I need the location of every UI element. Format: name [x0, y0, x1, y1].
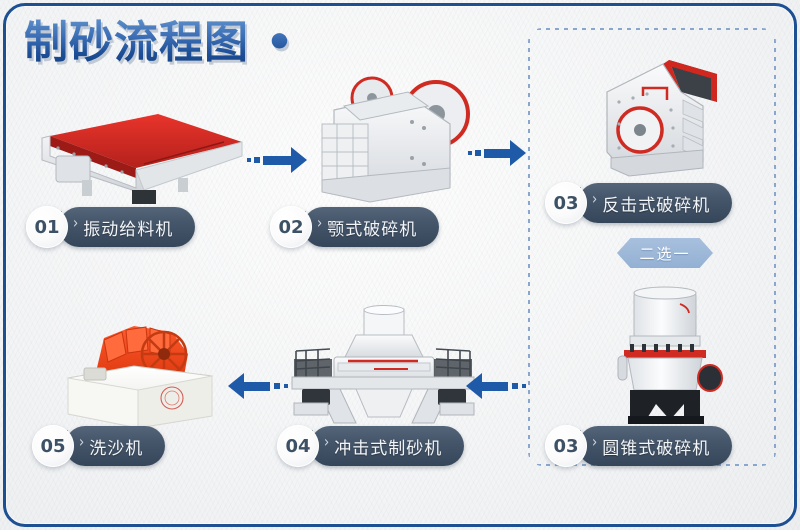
sand-washer-image — [60, 310, 240, 435]
arrow-head-right-icon — [510, 140, 526, 166]
step-label-pill[interactable]: › 圆锥式破碎机 — [578, 426, 732, 466]
step-label-pill[interactable]: › 振动给料机 — [59, 207, 195, 247]
arrow-vsi-to-washer — [228, 373, 288, 399]
cone-crusher-image — [610, 280, 730, 430]
arrow-dot — [475, 150, 481, 156]
step-label: 颚式破碎机 — [327, 215, 417, 240]
step-05[interactable]: 05 › 洗沙机 — [32, 425, 165, 467]
step-number: 03 — [545, 182, 587, 224]
arrow-dot — [247, 158, 251, 162]
step-label-pill[interactable]: › 反击式破碎机 — [578, 183, 732, 223]
impact-crusher-image — [585, 48, 735, 188]
step-number: 03 — [545, 425, 587, 467]
chevron-right-icon: › — [317, 214, 322, 233]
jaw-crusher-image — [300, 62, 480, 212]
chevron-right-icon: › — [73, 214, 78, 233]
arrow-dot — [468, 151, 472, 155]
step-label: 圆锥式破碎机 — [602, 434, 710, 459]
step-label: 冲击式制砂机 — [334, 434, 442, 459]
arrow-dot — [284, 384, 288, 388]
step-label-pill[interactable]: › 颚式破碎机 — [303, 207, 439, 247]
arrow-head-right-icon — [291, 147, 307, 173]
step-03-impact[interactable]: 03 › 反击式破碎机 — [545, 182, 732, 224]
step-label-pill[interactable]: › 冲击式制砂机 — [310, 426, 464, 466]
arrow-dot — [512, 383, 518, 389]
arrow-shaft — [484, 149, 510, 158]
step-number: 02 — [270, 206, 312, 248]
arrow-shaft — [263, 156, 291, 165]
step-label: 反击式破碎机 — [602, 191, 710, 216]
step-number: 01 — [26, 206, 68, 248]
step-number: 04 — [277, 425, 319, 467]
chevron-right-icon: › — [592, 190, 597, 209]
chevron-right-icon: › — [79, 433, 84, 452]
arrow-dot — [274, 383, 280, 389]
vibrating-feeder-image — [28, 98, 248, 208]
step-label-pill[interactable]: › 洗沙机 — [65, 426, 165, 466]
arrow-head-left-icon — [228, 373, 244, 399]
step-01[interactable]: 01 › 振动给料机 — [26, 206, 195, 248]
chevron-right-icon: › — [592, 433, 597, 452]
chevron-right-icon: › — [324, 433, 329, 452]
arrow-shaft — [482, 382, 508, 391]
step-number: 05 — [32, 425, 74, 467]
step-02[interactable]: 02 › 颚式破碎机 — [270, 206, 439, 248]
arrow-feeder-to-jaw — [247, 147, 307, 173]
step-04[interactable]: 04 › 冲击式制砂机 — [277, 425, 464, 467]
two-choose-one-badge: 二选一 — [617, 238, 713, 268]
arrow-dot — [254, 157, 260, 163]
arrow-shaft — [244, 382, 270, 391]
arrow-jaw-to-impact — [468, 140, 526, 166]
arrow-dot — [522, 384, 526, 388]
step-label: 洗沙机 — [89, 434, 143, 459]
flowchart-canvas: 制砂流程图 • — [0, 0, 800, 530]
vsi-sand-maker-image — [278, 305, 488, 430]
step-03-cone[interactable]: 03 › 圆锥式破碎机 — [545, 425, 732, 467]
page-title: 制砂流程图 • — [24, 18, 294, 68]
step-label: 振动给料机 — [83, 215, 173, 240]
arrow-head-left-icon — [466, 373, 482, 399]
arrow-cone-to-vsi — [466, 373, 526, 399]
